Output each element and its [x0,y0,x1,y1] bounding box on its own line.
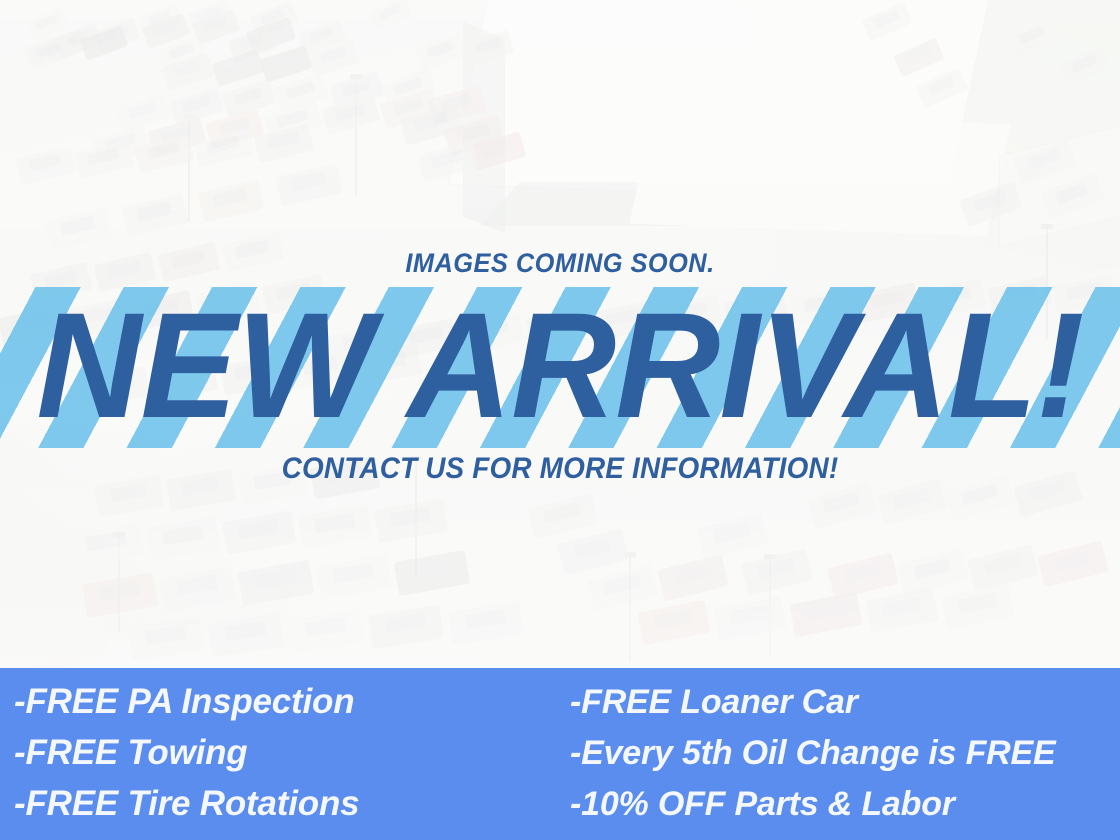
perks-left-column: -FREE PA Inspection -FREE Towing -FREE T… [0,677,562,829]
new-arrival-placeholder-image: IMAGES COMING SOON. NEW ARRIVAL! CONTACT… [0,0,1120,840]
perk-item: -FREE Tire Rotations [14,779,562,829]
dealership-building-rear-roof [629,112,1010,236]
new-arrival-headline: NEW ARRIVAL! [17,290,1103,440]
perk-item: -FREE PA Inspection [14,677,562,727]
perk-item: -FREE Loaner Car [570,677,1120,727]
service-perks-banner: -FREE PA Inspection -FREE Towing -FREE T… [0,668,1120,840]
contact-us-text: CONTACT US FOR MORE INFORMATION! [39,452,1081,486]
perks-right-column: -FREE Loaner Car -Every 5th Oil Change i… [562,677,1120,829]
images-coming-soon-text: IMAGES COMING SOON. [34,248,1087,279]
perk-item: -Every 5th Oil Change is FREE [570,728,1120,778]
perk-item: -10% OFF Parts & Labor [570,779,1120,829]
perk-item: -FREE Towing [14,728,562,778]
